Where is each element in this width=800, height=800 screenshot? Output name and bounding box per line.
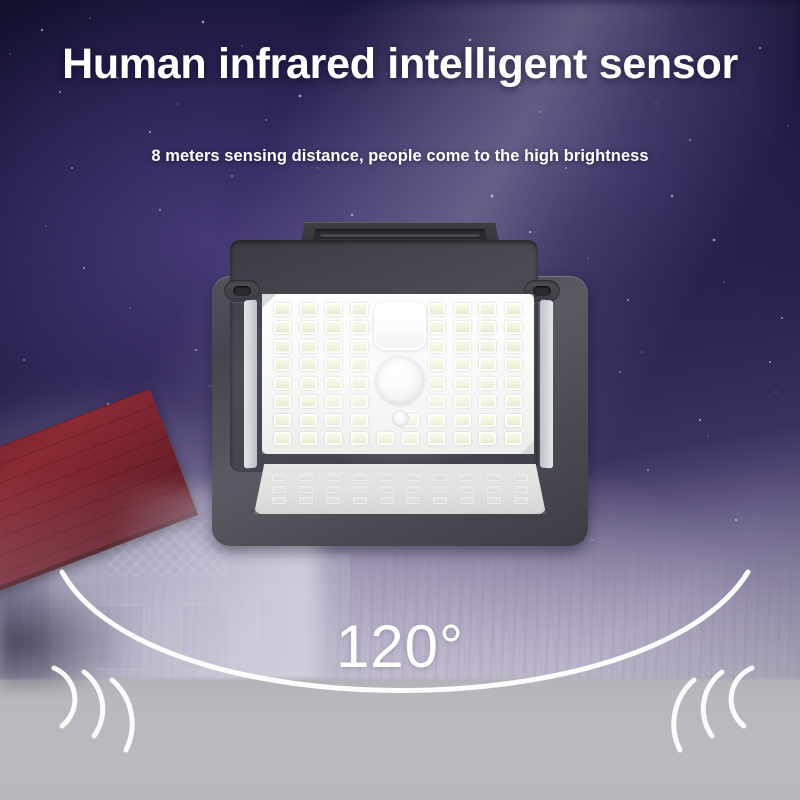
page-title: Human infrared intelligent sensor	[0, 40, 800, 89]
page-subtitle: 8 meters sensing distance, people come t…	[0, 147, 800, 166]
angle-label: 120°	[0, 612, 800, 681]
product-banner: 120° Human infrared intelligent sensor 8…	[0, 0, 800, 800]
